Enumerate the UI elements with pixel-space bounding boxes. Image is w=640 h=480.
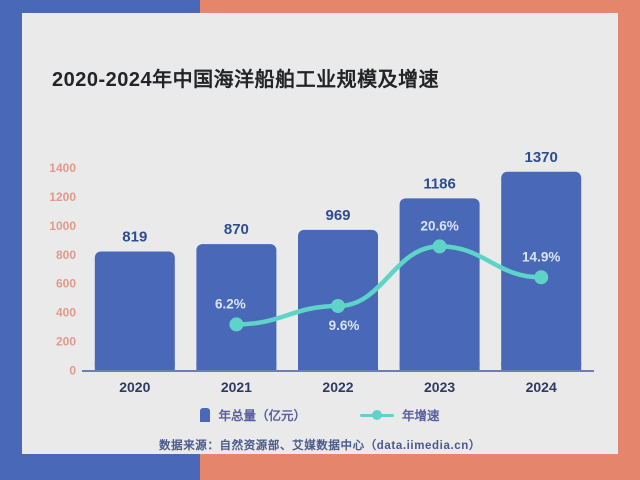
growth-value-label-2024: 14.9% [522, 249, 560, 264]
x-axis-label-2024: 2024 [526, 379, 557, 395]
bar-value-label-2020: 819 [122, 229, 147, 246]
growth-value-label-2021: 6.2% [215, 296, 246, 311]
line-swatch-icon [360, 409, 394, 421]
growth-value-label-2023: 20.6% [420, 218, 458, 233]
y-axis-tick-label: 400 [56, 306, 76, 320]
bar-base-fill [501, 362, 581, 370]
decor-band-bottom-blue [0, 454, 200, 480]
bar-base-fill [298, 362, 378, 370]
growth-point-2021[interactable] [229, 317, 243, 331]
y-axis-tick-label: 1000 [49, 219, 76, 233]
chart-card: 2020-2024年中国海洋船舶工业规模及增速 0200400600800100… [22, 13, 618, 454]
decor-band-top-orange [200, 0, 640, 13]
bar-value-label-2023: 1186 [423, 175, 456, 192]
y-axis-tick-label: 1200 [49, 190, 76, 204]
bar-base-fill [400, 362, 480, 370]
legend-label-total: 年总量（亿元） [218, 405, 306, 424]
bar-swatch-icon [200, 408, 210, 422]
x-axis-label-2023: 2023 [424, 379, 455, 395]
x-axis-label-2020: 2020 [119, 379, 150, 395]
decor-band-bottom-orange [200, 454, 640, 480]
legend-label-growth: 年增速 [402, 405, 440, 424]
y-axis-tick-label: 600 [56, 277, 76, 291]
legend-item-total[interactable]: 年总量（亿元） [200, 405, 306, 424]
chart-svg: 0200400600800100012001400819870969118613… [22, 13, 618, 454]
x-axis-label-2021: 2021 [221, 379, 252, 395]
bar-value-label-2022: 969 [325, 207, 350, 224]
growth-point-2023[interactable] [433, 239, 447, 253]
bar-base-fill [95, 362, 175, 370]
growth-point-2022[interactable] [331, 299, 345, 313]
growth-value-label-2022: 9.6% [329, 318, 360, 333]
bar-value-label-2024: 1370 [525, 149, 558, 166]
decor-band-right-orange [618, 0, 640, 480]
y-axis-tick-label: 200 [56, 335, 76, 349]
growth-line[interactable] [236, 246, 541, 324]
legend-item-growth[interactable]: 年增速 [360, 405, 440, 424]
growth-point-2024[interactable] [534, 270, 548, 284]
y-axis-tick-label: 0 [69, 364, 76, 378]
chart-plot-area: 0200400600800100012001400819870969118613… [22, 13, 618, 454]
bar-2020[interactable] [95, 252, 175, 370]
chart-page: 2020-2024年中国海洋船舶工业规模及增速 0200400600800100… [0, 0, 640, 480]
bar-base-fill [196, 362, 276, 370]
bar-value-label-2021: 870 [224, 221, 249, 238]
decor-band-left-blue [0, 0, 22, 480]
decor-band-top-blue [0, 0, 200, 13]
source-note: 数据来源：自然资源部、艾媒数据中心（data.iimedia.cn） [22, 437, 618, 453]
y-axis-tick-label: 1400 [49, 161, 76, 175]
y-axis-tick-label: 800 [56, 248, 76, 262]
x-axis-label-2022: 2022 [322, 379, 353, 395]
chart-legend: 年总量（亿元） 年增速 [22, 405, 618, 424]
